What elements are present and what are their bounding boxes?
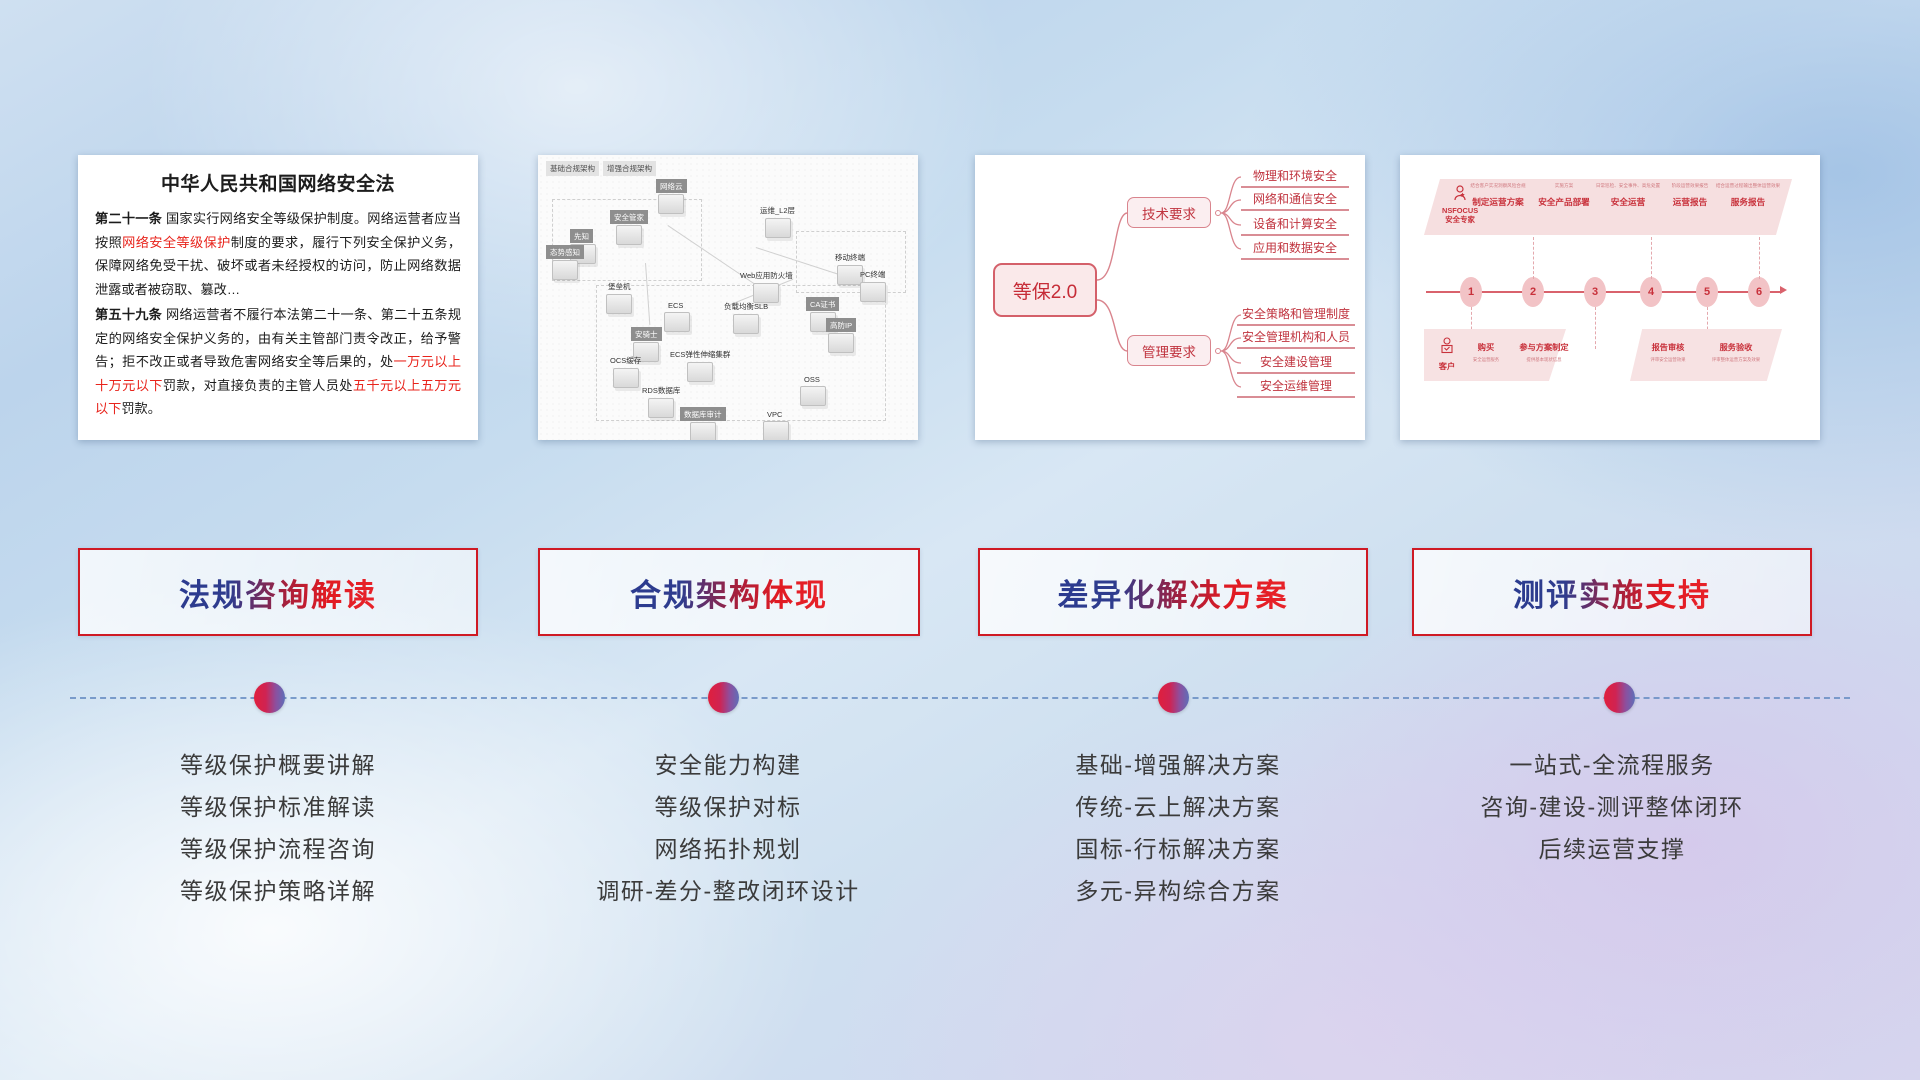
feature-item: 基础-增强解决方案	[968, 745, 1388, 787]
title-text-3: 差异化解决方案	[1058, 570, 1289, 615]
feature-item: 多元-异构综合方案	[968, 871, 1388, 913]
milestone-dot-1[interactable]	[254, 682, 285, 713]
title-text-2: 合规架构体现	[630, 570, 828, 615]
feature-item: 等级保护对标	[528, 787, 928, 829]
feature-item: 等级保护概要讲解	[78, 745, 478, 787]
feature-item: 安全能力构建	[528, 745, 928, 787]
feature-item: 国标-行标解决方案	[968, 829, 1388, 871]
feature-list-2: 安全能力构建等级保护对标网络拓扑规划调研-差分-整改闭环设计	[528, 745, 928, 912]
feature-list-1: 等级保护概要讲解等级保护标准解读等级保护流程咨询等级保护策略详解	[78, 745, 478, 912]
title-text-1: 法规咨询解读	[179, 570, 377, 615]
feature-item: 等级保护流程咨询	[78, 829, 478, 871]
milestone-dot-4[interactable]	[1604, 682, 1635, 713]
feature-list-3: 基础-增强解决方案传统-云上解决方案国标-行标解决方案多元-异构综合方案	[968, 745, 1388, 912]
milestone-dot-3[interactable]	[1158, 682, 1189, 713]
feature-item: 传统-云上解决方案	[968, 787, 1388, 829]
title-box-differentiated-solution[interactable]: 差异化解决方案	[978, 548, 1368, 636]
feature-item: 调研-差分-整改闭环设计	[528, 871, 928, 913]
feature-list-4: 一站式-全流程服务咨询-建设-测评整体闭环后续运营支撑	[1402, 745, 1822, 871]
feature-item: 网络拓扑规划	[528, 829, 928, 871]
milestone-axis	[70, 697, 1850, 699]
title-boxes: 法规咨询解读 合规架构体现 差异化解决方案 测评实施支持 等级保护概要讲解等级保…	[0, 0, 1920, 1080]
feature-item: 咨询-建设-测评整体闭环	[1402, 787, 1822, 829]
title-box-assessment-support[interactable]: 测评实施支持	[1412, 548, 1812, 636]
feature-item: 等级保护策略详解	[78, 871, 478, 913]
milestone-dot-2[interactable]	[708, 682, 739, 713]
feature-item: 等级保护标准解读	[78, 787, 478, 829]
title-box-regulation-consulting[interactable]: 法规咨询解读	[78, 548, 478, 636]
title-box-compliance-architecture[interactable]: 合规架构体现	[538, 548, 920, 636]
feature-item: 一站式-全流程服务	[1402, 745, 1822, 787]
title-text-4: 测评实施支持	[1513, 570, 1711, 615]
feature-item: 后续运营支撑	[1402, 829, 1822, 871]
